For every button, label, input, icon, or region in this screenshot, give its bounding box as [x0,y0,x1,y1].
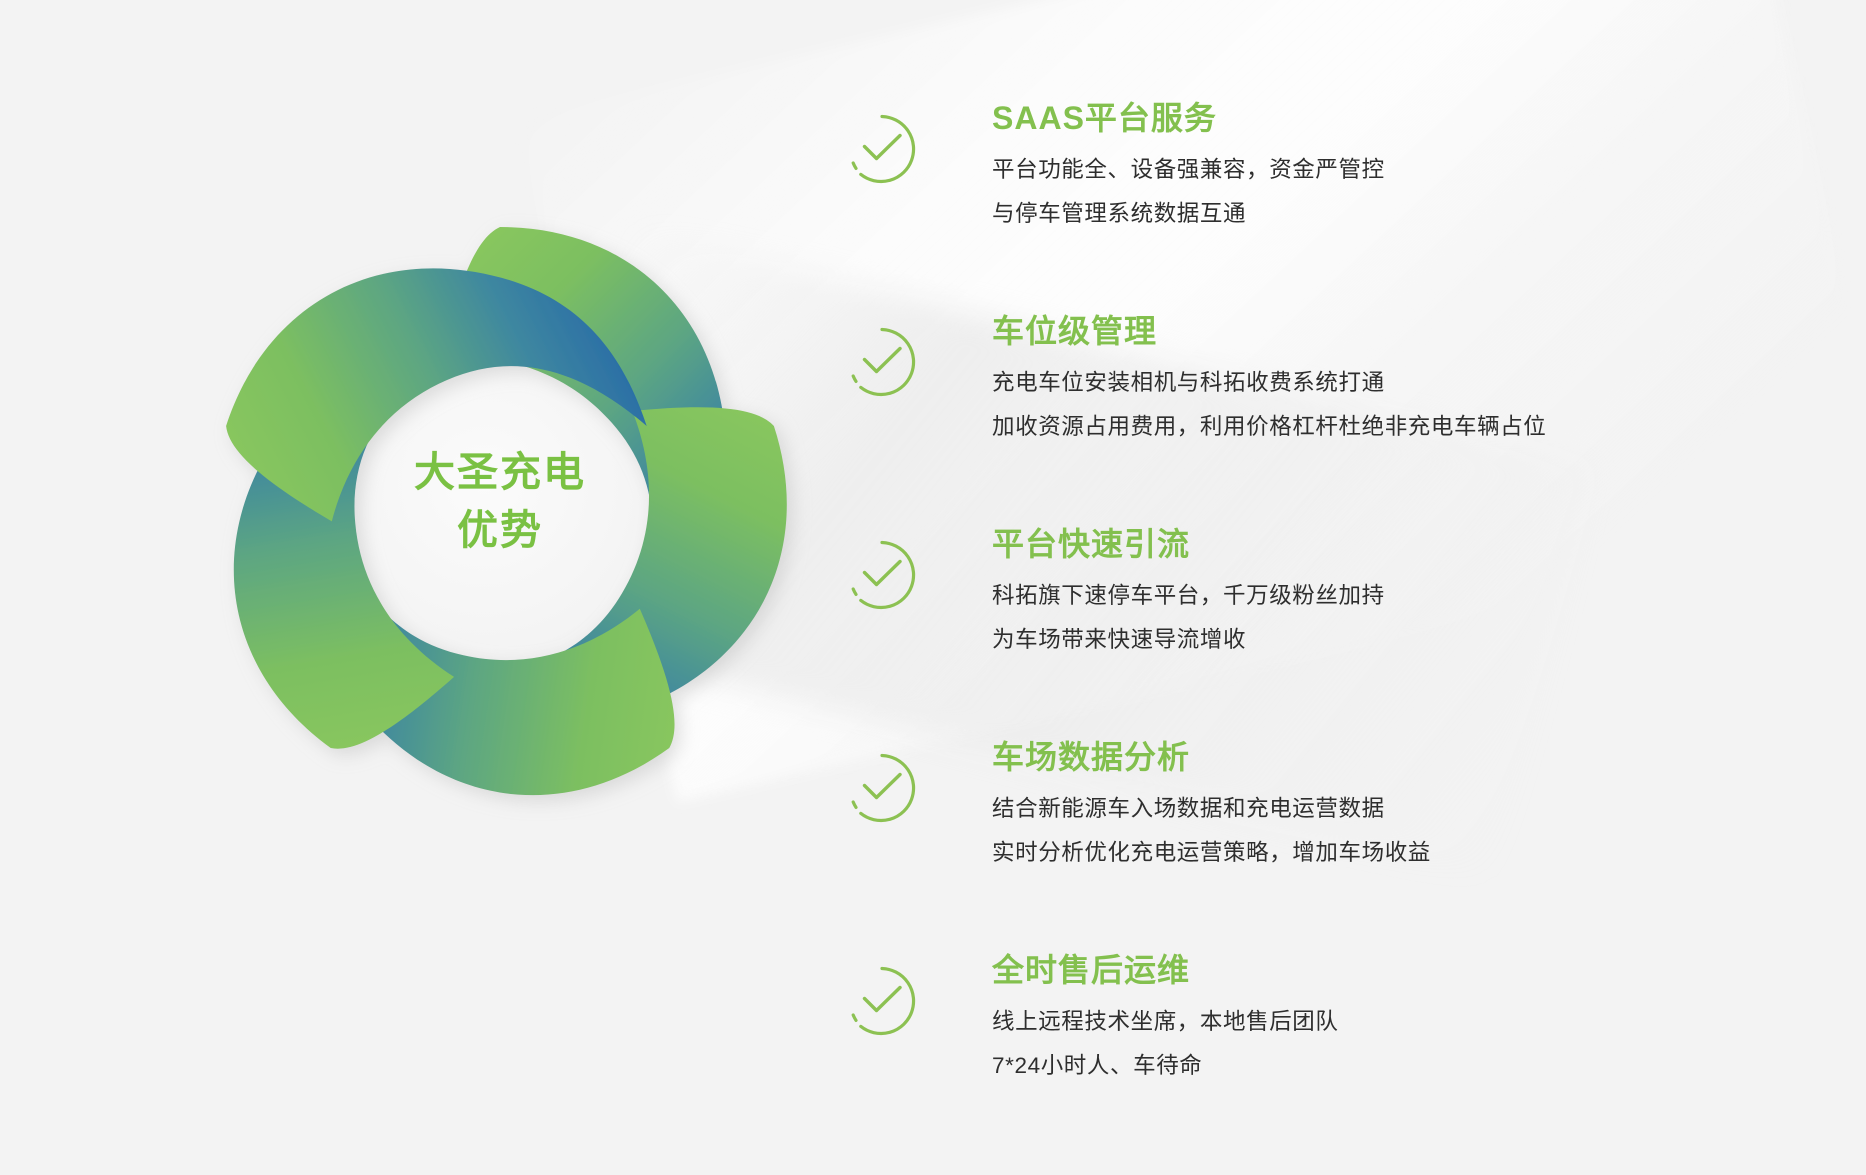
feature-item: 车位级管理 充电车位安装相机与科拓收费系统打通 加收资源占用费用，利用价格杠杆杜… [845,291,1845,504]
feature-title: SAAS平台服务 [992,98,1842,138]
feature-description-line: 线上远程技术坐席，本地售后团队 [992,1000,1842,1044]
feature-item: 平台快速引流 科拓旗下速停车平台，千万级粉丝加持 为车场带来快速导流增收 [845,504,1845,717]
check-circle-icon [845,538,919,612]
feature-description-line: 平台功能全、设备强兼容，资金严管控 [992,148,1842,192]
feature-text-block: 全时售后运维 线上远程技术坐席，本地售后团队 7*24小时人、车待命 [992,950,1842,1088]
pinwheel-logo-graphic [160,175,840,855]
check-circle-icon [845,325,919,399]
feature-item: SAAS平台服务 平台功能全、设备强兼容，资金严管控 与停车管理系统数据互通 [845,78,1845,291]
feature-text-block: 车位级管理 充电车位安装相机与科拓收费系统打通 加收资源占用费用，利用价格杠杆杜… [992,311,1842,449]
feature-title: 车场数据分析 [992,737,1842,777]
feature-description-line: 实时分析优化充电运营策略，增加车场收益 [992,831,1842,875]
logo: 大圣充电 优势 [160,175,840,855]
feature-description-line: 结合新能源车入场数据和充电运营数据 [992,787,1842,831]
feature-description-line: 加收资源占用费用，利用价格杠杆杜绝非充电车辆占位 [992,405,1842,449]
feature-text-block: 平台快速引流 科拓旗下速停车平台，千万级粉丝加持 为车场带来快速导流增收 [992,524,1842,662]
feature-title: 全时售后运维 [992,950,1842,990]
feature-title: 车位级管理 [992,311,1842,351]
feature-item: 全时售后运维 线上远程技术坐席，本地售后团队 7*24小时人、车待命 [845,930,1845,1143]
feature-description-line: 充电车位安装相机与科拓收费系统打通 [992,361,1842,405]
feature-description-line: 7*24小时人、车待命 [992,1044,1842,1088]
feature-description-line: 为车场带来快速导流增收 [992,618,1842,662]
feature-text-block: 车场数据分析 结合新能源车入场数据和充电运营数据 实时分析优化充电运营策略，增加… [992,737,1842,875]
check-circle-icon [845,112,919,186]
feature-list: SAAS平台服务 平台功能全、设备强兼容，资金严管控 与停车管理系统数据互通 车… [845,78,1845,1143]
check-circle-icon [845,964,919,1038]
infographic-page: 大圣充电 优势 SAAS平台服务 平台功能全、设备强兼容，资金严管控 与停车管理… [0,0,1866,1175]
feature-description-line: 科拓旗下速停车平台，千万级粉丝加持 [992,574,1842,618]
feature-text-block: SAAS平台服务 平台功能全、设备强兼容，资金严管控 与停车管理系统数据互通 [992,98,1842,236]
feature-description-line: 与停车管理系统数据互通 [992,192,1842,236]
feature-title: 平台快速引流 [992,524,1842,564]
feature-item: 车场数据分析 结合新能源车入场数据和充电运营数据 实时分析优化充电运营策略，增加… [845,717,1845,930]
check-circle-icon [845,751,919,825]
